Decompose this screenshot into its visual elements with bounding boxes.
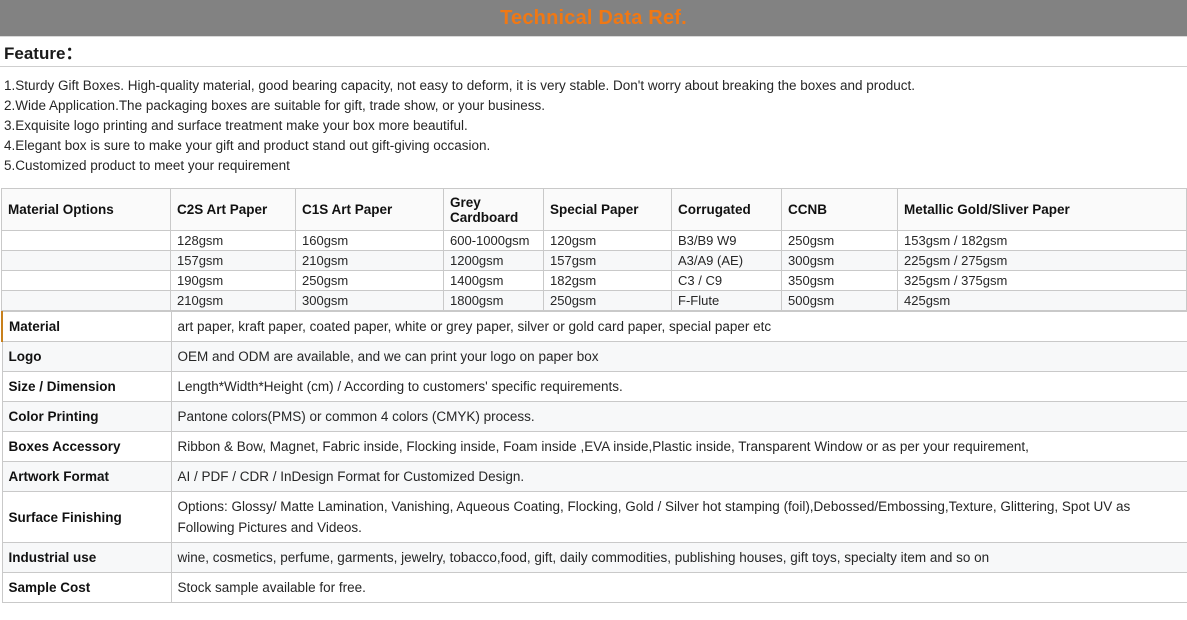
cell-special-paper: 120gsm <box>544 231 672 251</box>
specification-table: Material art paper, kraft paper, coated … <box>1 311 1187 603</box>
cell-grey-cardboard: 600-1000gsm <box>444 231 544 251</box>
table-row: Sample Cost Stock sample available for f… <box>2 573 1187 603</box>
spec-label-artwork-format: Artwork Format <box>2 462 171 492</box>
feature-line: 1.Sturdy Gift Boxes. High-quality materi… <box>4 76 1183 96</box>
column-header-grey-cardboard: Grey Cardboard <box>444 189 544 231</box>
spec-value-sample-cost: Stock sample available for free. <box>171 573 1187 603</box>
spec-label-boxes-accessory: Boxes Accessory <box>2 432 171 462</box>
table-row: Surface Finishing Options: Glossy/ Matte… <box>2 492 1187 543</box>
spec-label-size-dimension: Size / Dimension <box>2 372 171 402</box>
cell-corrugated: F-Flute <box>672 291 782 311</box>
column-header-metallic: Metallic Gold/Sliver Paper <box>898 189 1187 231</box>
spec-label-sample-cost: Sample Cost <box>2 573 171 603</box>
column-header-special-paper: Special Paper <box>544 189 672 231</box>
cell-c2s: 128gsm <box>171 231 296 251</box>
cell-c2s: 190gsm <box>171 271 296 291</box>
materials-table: Material Options C2S Art Paper C1S Art P… <box>1 188 1187 311</box>
cell-grey-cardboard: 1200gsm <box>444 251 544 271</box>
spec-label-logo: Logo <box>2 342 171 372</box>
technical-data-page: Technical Data Ref. Feature： 1.Sturdy Gi… <box>0 0 1187 620</box>
cell-c2s: 157gsm <box>171 251 296 271</box>
page-banner: Technical Data Ref. <box>0 0 1187 37</box>
table-row: 157gsm 210gsm 1200gsm 157gsm A3/A9 (AE) … <box>2 251 1187 271</box>
cell-special-paper: 250gsm <box>544 291 672 311</box>
banner-title: Technical Data Ref. <box>500 8 687 28</box>
cell-material-options <box>2 251 171 271</box>
cell-c2s: 210gsm <box>171 291 296 311</box>
column-header-corrugated: Corrugated <box>672 189 782 231</box>
spec-label-color-printing: Color Printing <box>2 402 171 432</box>
cell-ccnb: 350gsm <box>782 271 898 291</box>
cell-ccnb: 250gsm <box>782 231 898 251</box>
cell-special-paper: 182gsm <box>544 271 672 291</box>
spec-label-industrial-use: Industrial use <box>2 543 171 573</box>
cell-material-options <box>2 231 171 251</box>
spec-value-industrial-use: wine, cosmetics, perfume, garments, jewe… <box>171 543 1187 573</box>
table-row: Artwork Format AI / PDF / CDR / InDesign… <box>2 462 1187 492</box>
cell-metallic: 425gsm <box>898 291 1187 311</box>
cell-metallic: 325gsm / 375gsm <box>898 271 1187 291</box>
cell-c1s: 210gsm <box>296 251 444 271</box>
column-header-ccnb: CCNB <box>782 189 898 231</box>
feature-list: 1.Sturdy Gift Boxes. High-quality materi… <box>0 67 1187 184</box>
feature-line: 4.Elegant box is sure to make your gift … <box>4 136 1183 156</box>
feature-heading-bar: Feature： <box>0 37 1187 67</box>
cell-c1s: 250gsm <box>296 271 444 291</box>
cell-metallic: 225gsm / 275gsm <box>898 251 1187 271</box>
cell-material-options <box>2 271 171 291</box>
spec-value-material: art paper, kraft paper, coated paper, wh… <box>171 312 1187 342</box>
cell-material-options <box>2 291 171 311</box>
cell-ccnb: 300gsm <box>782 251 898 271</box>
table-row: Boxes Accessory Ribbon & Bow, Magnet, Fa… <box>2 432 1187 462</box>
spec-value-logo: OEM and ODM are available, and we can pr… <box>171 342 1187 372</box>
table-row: Material art paper, kraft paper, coated … <box>2 312 1187 342</box>
table-row: 128gsm 160gsm 600-1000gsm 120gsm B3/B9 W… <box>2 231 1187 251</box>
cell-c1s: 300gsm <box>296 291 444 311</box>
table-row: 190gsm 250gsm 1400gsm 182gsm C3 / C9 350… <box>2 271 1187 291</box>
cell-corrugated: A3/A9 (AE) <box>672 251 782 271</box>
column-header-c2s: C2S Art Paper <box>171 189 296 231</box>
feature-heading: Feature： <box>4 39 82 64</box>
spec-value-surface-finishing: Options: Glossy/ Matte Lamination, Vanis… <box>171 492 1187 543</box>
cell-grey-cardboard: 1800gsm <box>444 291 544 311</box>
feature-line: 5.Customized product to meet your requir… <box>4 156 1183 176</box>
spec-value-boxes-accessory: Ribbon & Bow, Magnet, Fabric inside, Flo… <box>171 432 1187 462</box>
table-row: 210gsm 300gsm 1800gsm 250gsm F-Flute 500… <box>2 291 1187 311</box>
materials-header-row: Material Options C2S Art Paper C1S Art P… <box>2 189 1187 231</box>
cell-special-paper: 157gsm <box>544 251 672 271</box>
table-row: Size / Dimension Length*Width*Height (cm… <box>2 372 1187 402</box>
spec-value-size-dimension: Length*Width*Height (cm) / According to … <box>171 372 1187 402</box>
column-header-c1s: C1S Art Paper <box>296 189 444 231</box>
cell-grey-cardboard: 1400gsm <box>444 271 544 291</box>
cell-corrugated: B3/B9 W9 <box>672 231 782 251</box>
spec-value-color-printing: Pantone colors(PMS) or common 4 colors (… <box>171 402 1187 432</box>
cell-c1s: 160gsm <box>296 231 444 251</box>
spec-value-artwork-format: AI / PDF / CDR / InDesign Format for Cus… <box>171 462 1187 492</box>
table-row: Logo OEM and ODM are available, and we c… <box>2 342 1187 372</box>
table-row: Color Printing Pantone colors(PMS) or co… <box>2 402 1187 432</box>
cell-ccnb: 500gsm <box>782 291 898 311</box>
spec-label-surface-finishing: Surface Finishing <box>2 492 171 543</box>
cell-metallic: 153gsm / 182gsm <box>898 231 1187 251</box>
cell-corrugated: C3 / C9 <box>672 271 782 291</box>
feature-line: 3.Exquisite logo printing and surface tr… <box>4 116 1183 136</box>
spec-label-material: Material <box>2 312 171 342</box>
column-header-material-options: Material Options <box>2 189 171 231</box>
feature-line: 2.Wide Application.The packaging boxes a… <box>4 96 1183 116</box>
table-row: Industrial use wine, cosmetics, perfume,… <box>2 543 1187 573</box>
